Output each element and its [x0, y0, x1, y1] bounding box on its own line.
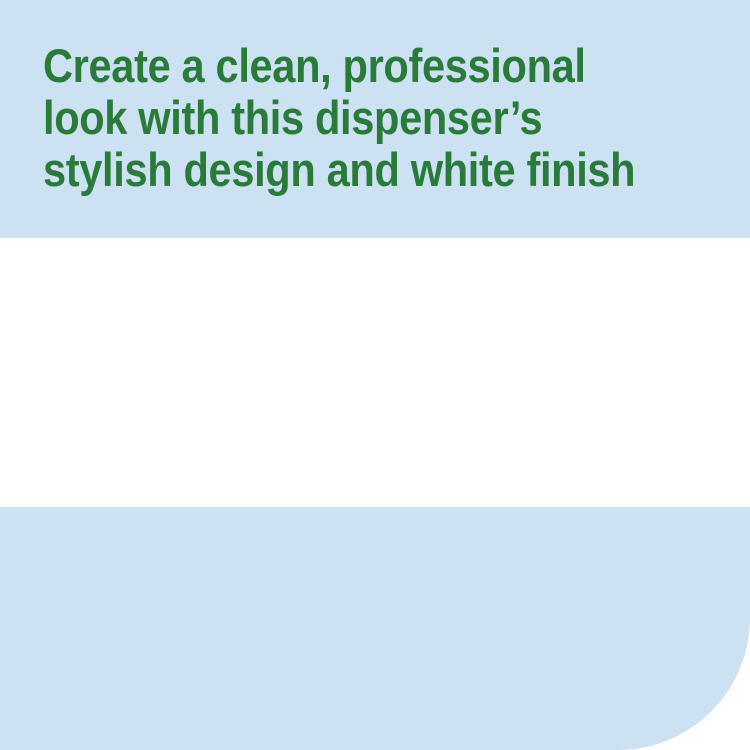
feature-panel-one-at-a-time-dispensing: One-at-a-time dispensing; touch only wha…	[0, 507, 750, 750]
feature-panel-reduce-staff-maintenance: Reduce staff maintenance time with this …	[0, 238, 750, 507]
feature-panel-clean-professional-look: Create a clean, professional look with t…	[0, 0, 750, 238]
feature-highlights-poster: Create a clean, professional look with t…	[0, 0, 750, 750]
feature-text-clean-professional-look: Create a clean, professional look with t…	[43, 40, 645, 196]
